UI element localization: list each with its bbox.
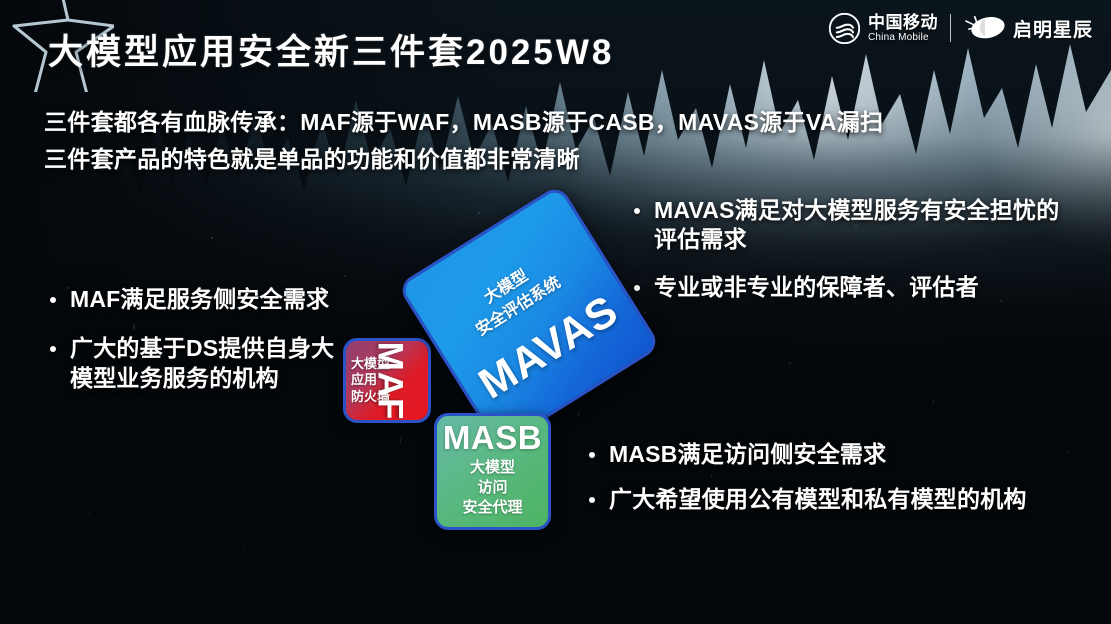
slide-root: 中国移动 China Mobile 启明星辰 大模型应用安全新三件套2025W8 [0,0,1111,624]
list-item: MASB满足访问侧安全需求 [583,440,1033,469]
page-title: 大模型应用安全新三件套2025W8 [48,24,614,75]
bullet-list-mavas: MAVAS满足对大模型服务有安全担忧的评估需求 专业或非专业的保障者、评估者 [628,196,1068,302]
subtitle-line-1: 三件套都各有血脉传承：MAF源于WAF，MASB源于CASB，MAVAS源于VA… [44,104,1064,141]
bullet-group-mavas: MAVAS满足对大模型服务有安全担忧的评估需求 专业或非专业的保障者、评估者 [628,196,1068,320]
venustech-logo-icon [963,13,1007,43]
bullet-group-maf: MAF满足服务侧安全需求 广大的基于DS提供自身大模型业务服务的机构 [44,285,344,413]
list-item: MAF满足服务侧安全需求 [44,285,344,314]
header-logos: 中国移动 China Mobile 启明星辰 [829,7,1093,49]
list-item: MAVAS满足对大模型服务有安全担忧的评估需求 [628,196,1068,255]
list-item: 专业或非专业的保障者、评估者 [628,273,1068,302]
bullet-list-maf: MAF满足服务侧安全需求 广大的基于DS提供自身大模型业务服务的机构 [44,285,344,393]
subtitle-block: 三件套都各有血脉传承：MAF源于WAF，MASB源于CASB，MAVAS源于VA… [44,104,1064,179]
china-mobile-logo-text: 中国移动 China Mobile [868,14,938,43]
china-mobile-name-en: China Mobile [868,33,938,43]
china-mobile-name-cn: 中国移动 [868,14,938,31]
list-item: 广大的基于DS提供自身大模型业务服务的机构 [44,334,344,393]
venustech-logo: 启明星辰 [963,13,1093,43]
venustech-name-cn: 启明星辰 [1013,15,1093,42]
china-mobile-logo: 中国移动 China Mobile [829,13,938,44]
subtitle-line-2: 三件套产品的特色就是单品的功能和价值都非常清晰 [44,141,1064,178]
logo-divider [950,14,951,42]
product-box-maf-acronym: MAF [370,341,410,420]
product-box-masb[interactable]: MASB 大模型 访问 安全代理 [434,413,551,530]
bullet-group-masb: MASB满足访问侧安全需求 广大希望使用公有模型和私有模型的机构 [583,440,1033,531]
product-box-mavas[interactable]: 大模型 安全评估系统 MAVAS [397,184,662,449]
product-box-mavas-wrapper: 大模型 安全评估系统 MAVAS [433,220,625,412]
product-diagram: 大模型 应用 防火墙 MAF 大模型 安全评估系统 MAVAS MASB 大模型… [330,215,630,535]
product-box-masb-cn: 大模型 访问 安全代理 [437,458,548,518]
product-box-masb-acronym: MASB [437,420,548,457]
product-box-maf[interactable]: 大模型 应用 防火墙 MAF [343,338,431,423]
bullet-list-masb: MASB满足访问侧安全需求 广大希望使用公有模型和私有模型的机构 [583,440,1033,515]
list-item: 广大希望使用公有模型和私有模型的机构 [583,485,1033,514]
china-mobile-logo-icon [829,13,860,44]
